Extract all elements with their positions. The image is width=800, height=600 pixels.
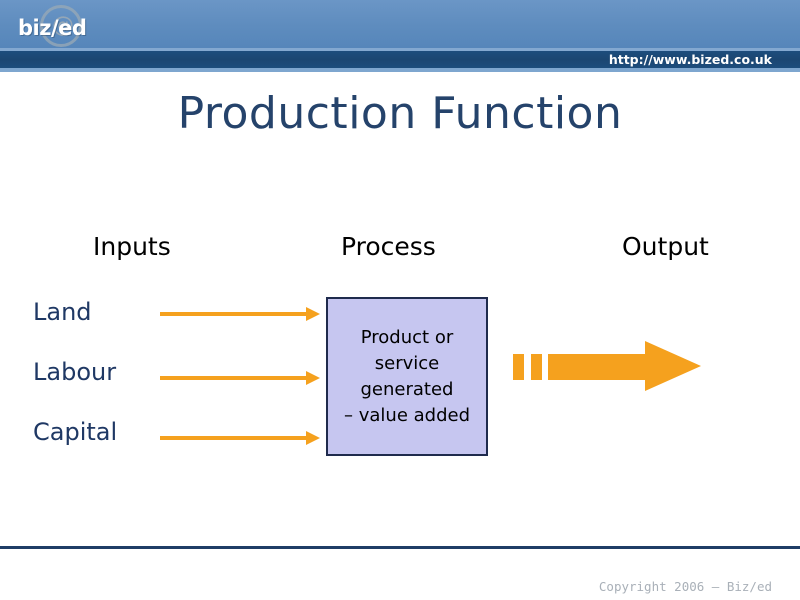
arrow-shaft (160, 376, 308, 380)
arrow-shaft (160, 312, 308, 316)
bized-logo[interactable]: @ biz/ed (8, 4, 112, 48)
arrow-head-icon (306, 307, 320, 321)
column-heading-inputs: Inputs (93, 232, 171, 261)
page-title: Production Function (0, 88, 800, 139)
input-label-labour: Labour (33, 358, 116, 386)
input-label-capital: Capital (33, 418, 117, 446)
arrow-shaft (160, 436, 308, 440)
header-divider-bottom (0, 68, 800, 72)
header-top-band (0, 0, 800, 48)
copyright-label: Copyright 2006 – Biz/ed (599, 579, 772, 594)
output-arrow-body (548, 354, 658, 380)
output-arrow-head-icon (645, 341, 701, 391)
column-heading-process: Process (341, 232, 436, 261)
output-arrow (513, 341, 703, 392)
site-url-label[interactable]: http://www.bized.co.uk (609, 51, 772, 68)
process-box: Product or service generated – value add… (326, 297, 488, 456)
output-arrow-dash-1 (513, 354, 524, 380)
footer-divider (0, 546, 800, 549)
input-arrow-land (160, 307, 320, 321)
input-label-land: Land (33, 298, 92, 326)
process-box-text: Product or service generated – value add… (342, 325, 472, 429)
output-arrow-dash-2 (531, 354, 542, 380)
arrow-head-icon (306, 371, 320, 385)
arrow-head-icon (306, 431, 320, 445)
logo-wordmark: biz/ed (18, 16, 86, 40)
page-header: @ biz/ed http://www.bized.co.uk (0, 0, 800, 72)
input-arrow-capital (160, 431, 320, 445)
column-heading-output: Output (622, 232, 709, 261)
input-arrow-labour (160, 371, 320, 385)
